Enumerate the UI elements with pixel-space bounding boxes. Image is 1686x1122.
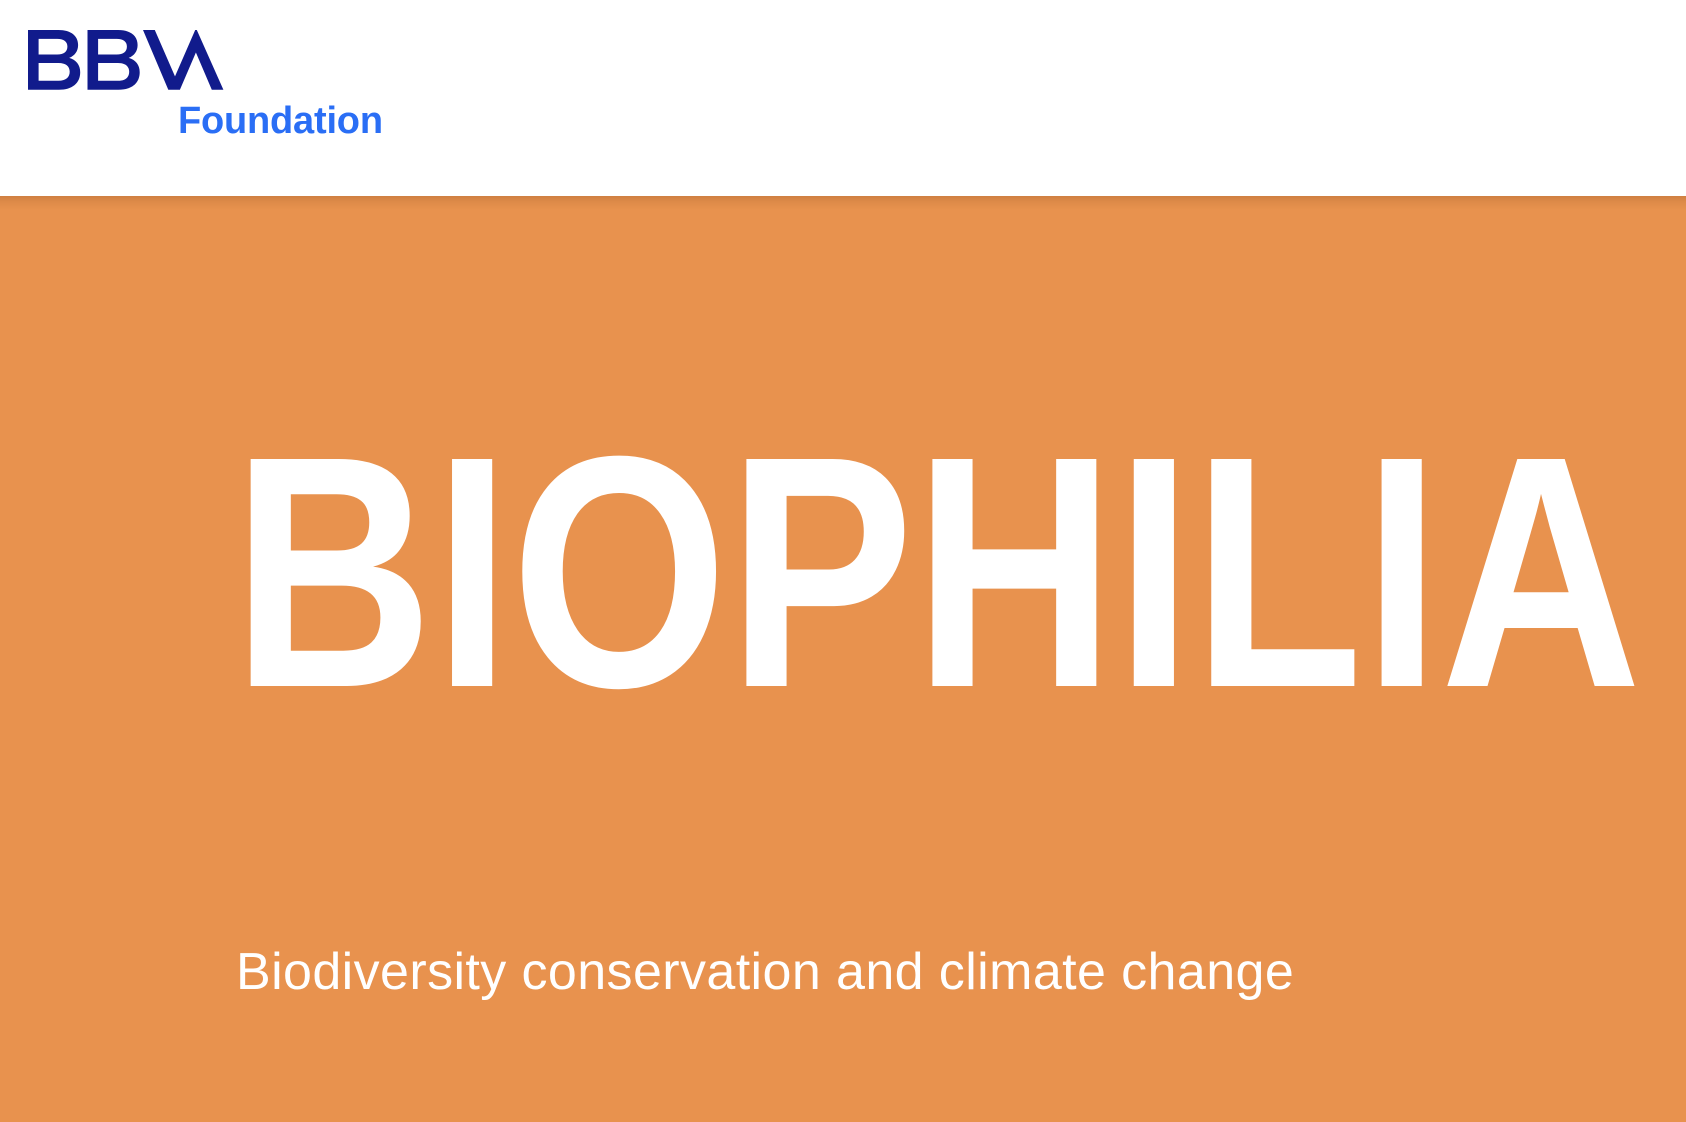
hero-subtitle: Biodiversity conservation and climate ch… — [236, 944, 1294, 1001]
hero-banner: BIOPHILIA Biodiversity conservation and … — [0, 196, 1686, 1122]
hero-content: BIOPHILIA Biodiversity conservation and … — [0, 196, 1686, 1122]
page-root: Foundation BIOPHILIA Biodiversity conser… — [0, 0, 1686, 1122]
site-header: Foundation — [0, 0, 1686, 196]
brand-lockup-link[interactable]: Foundation — [28, 30, 428, 160]
bbva-wordmark-icon — [28, 30, 240, 92]
hero-title: BIOPHILIA — [232, 450, 1642, 694]
brand-subbrand-label: Foundation — [178, 102, 383, 140]
